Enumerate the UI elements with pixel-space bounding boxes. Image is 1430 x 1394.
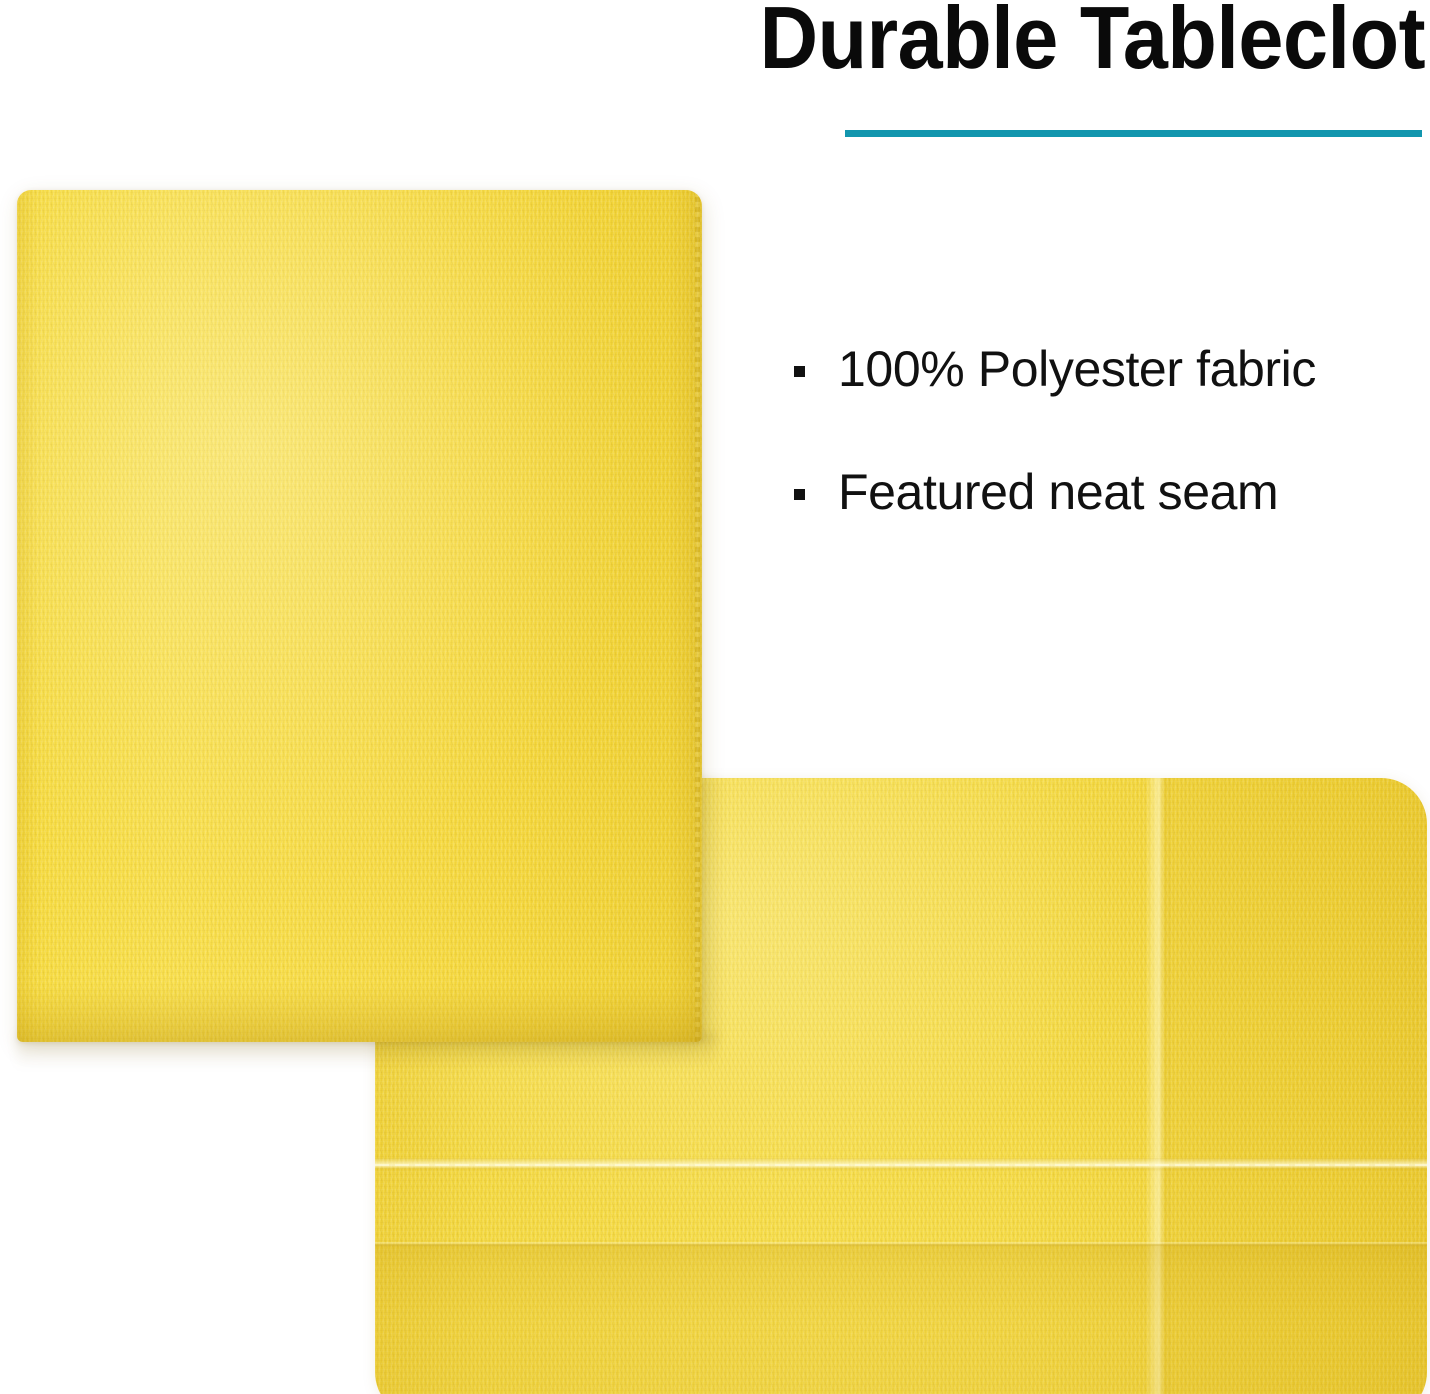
fabric-left-edge-shade	[17, 190, 37, 1042]
title-underline-rule	[845, 130, 1422, 137]
feature-label: Featured neat seam	[838, 464, 1278, 520]
feature-list: 100% Polyester fabric Featured neat seam	[790, 340, 1430, 586]
square-bullet-icon	[794, 366, 805, 377]
product-feature-image: Durable Tablecloth 100% Polyester fabric…	[0, 0, 1430, 1394]
page-title: Durable Tablecloth	[760, 0, 1422, 82]
square-bullet-icon	[794, 489, 805, 500]
folded-tablecloth-upper	[17, 190, 702, 1042]
fabric-hem-band	[375, 1244, 1427, 1394]
feature-text-panel: Durable Tablecloth 100% Polyester fabric…	[700, 0, 1430, 600]
fabric-sheen-highlight	[17, 190, 702, 1042]
fabric-bottom-hem-band	[17, 984, 702, 1042]
list-item: Featured neat seam	[790, 463, 1430, 522]
list-item: 100% Polyester fabric	[790, 340, 1430, 399]
feature-label: 100% Polyester fabric	[838, 341, 1316, 397]
fabric-stitch-line	[375, 1164, 1427, 1166]
